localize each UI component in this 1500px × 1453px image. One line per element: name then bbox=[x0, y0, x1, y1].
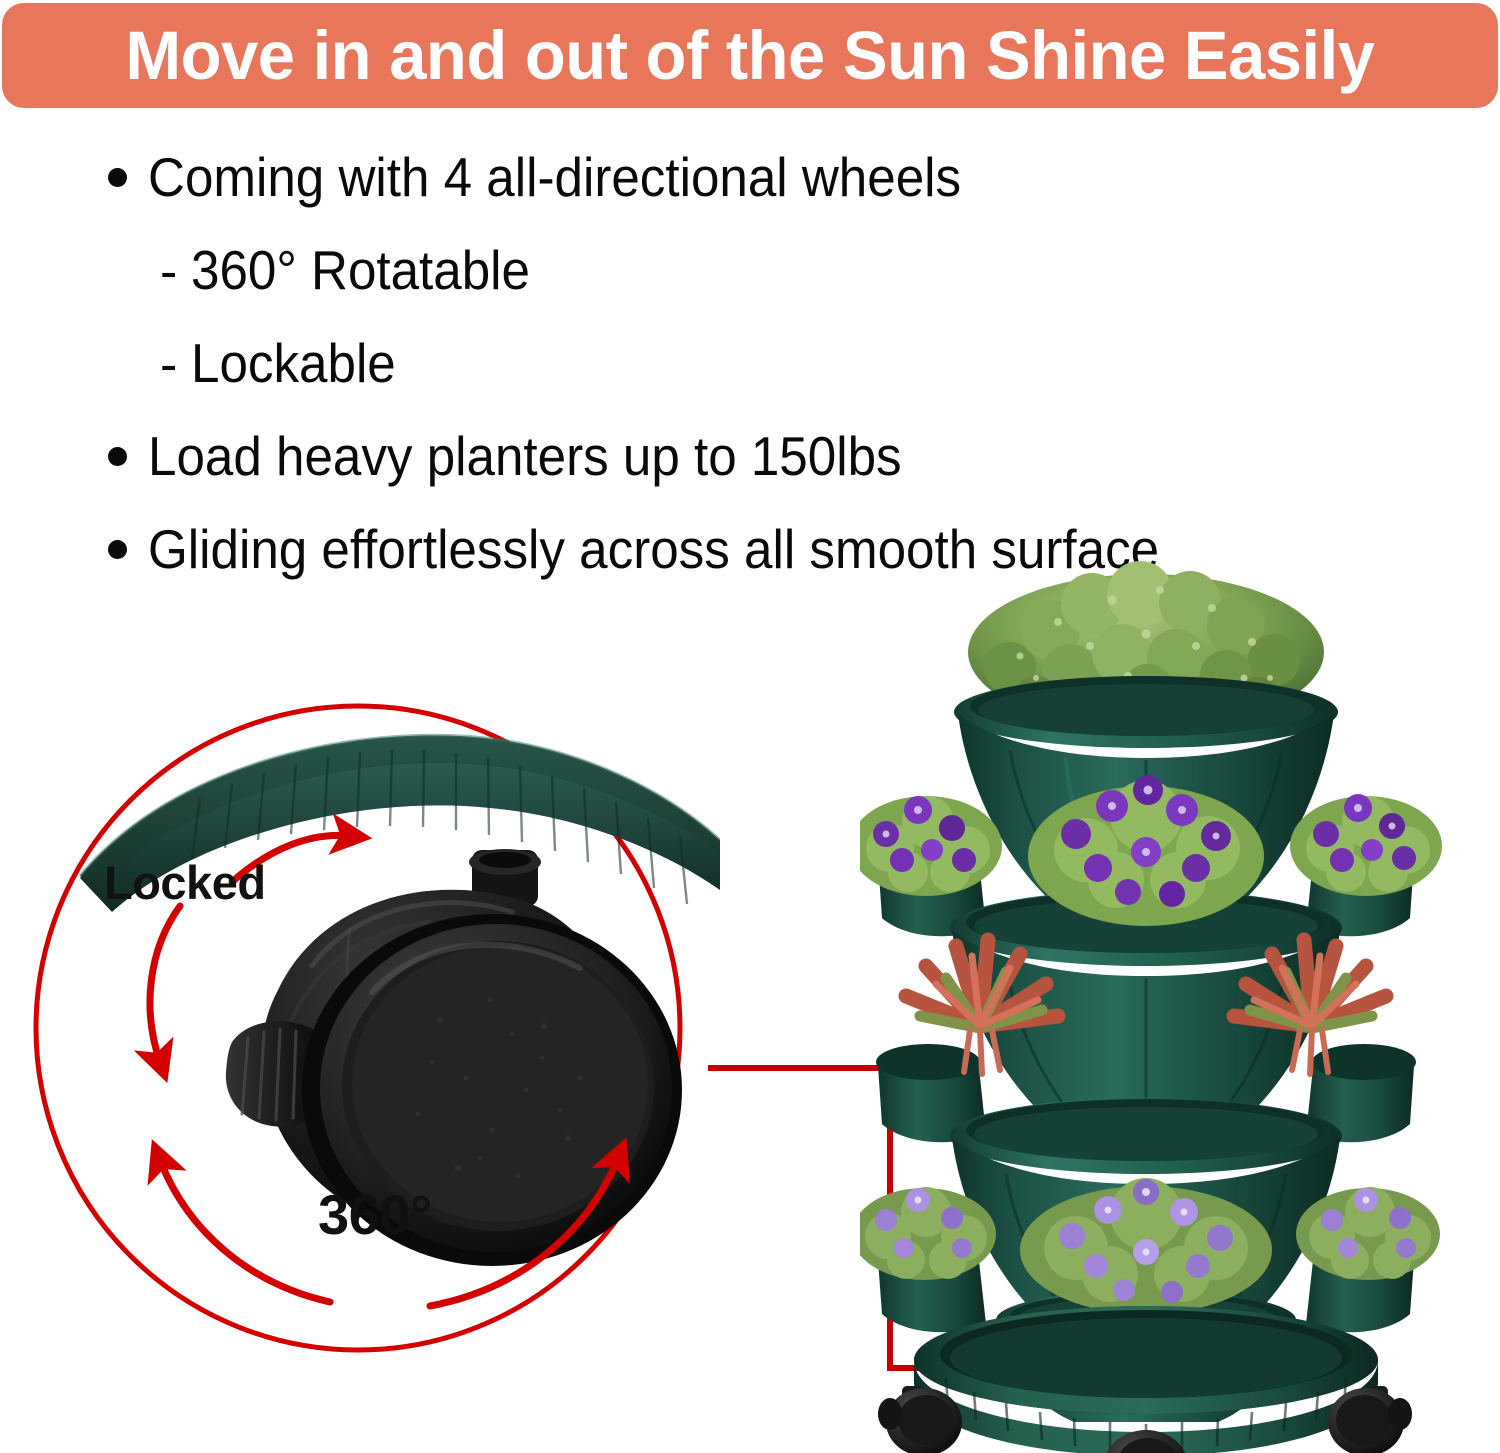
locked-label: Locked bbox=[104, 855, 266, 910]
rotation-degree-label: 360° bbox=[318, 1182, 432, 1247]
bullet-dot-icon bbox=[108, 540, 127, 559]
feature-subitem-label: Lockable bbox=[191, 336, 396, 391]
bullet-dot-icon bbox=[108, 168, 127, 187]
header-banner: Move in and out of the Sun Shine Easily bbox=[2, 3, 1498, 108]
feature-list: Coming with 4 all-directional wheels - 3… bbox=[108, 150, 1488, 615]
feature-subitem-label: 360° Rotatable bbox=[191, 243, 530, 298]
feature-item-load-capacity: Load heavy planters up to 150lbs bbox=[108, 429, 1488, 522]
caster-wheel-right bbox=[1328, 1386, 1412, 1453]
rotation-arc-left bbox=[160, 1160, 330, 1302]
bullet-dot-icon bbox=[108, 447, 127, 466]
locked-arrow-down bbox=[150, 906, 180, 1062]
feature-subitem-lockable: - Lockable bbox=[108, 336, 1488, 429]
caster-wheel-left bbox=[878, 1386, 962, 1453]
page-title: Move in and out of the Sun Shine Easily bbox=[125, 21, 1374, 90]
dash-marker-icon: - bbox=[160, 246, 177, 298]
feature-subitem-rotatable: - 360° Rotatable bbox=[108, 243, 1488, 336]
stackable-planter-tower bbox=[860, 560, 1500, 1453]
feature-item-wheels: Coming with 4 all-directional wheels bbox=[108, 150, 1488, 243]
feature-item-label: Coming with 4 all-directional wheels bbox=[148, 150, 961, 205]
feature-item-label: Load heavy planters up to 150lbs bbox=[148, 429, 902, 484]
dash-marker-icon: - bbox=[160, 339, 177, 391]
caster-detail-callout bbox=[20, 690, 720, 1370]
